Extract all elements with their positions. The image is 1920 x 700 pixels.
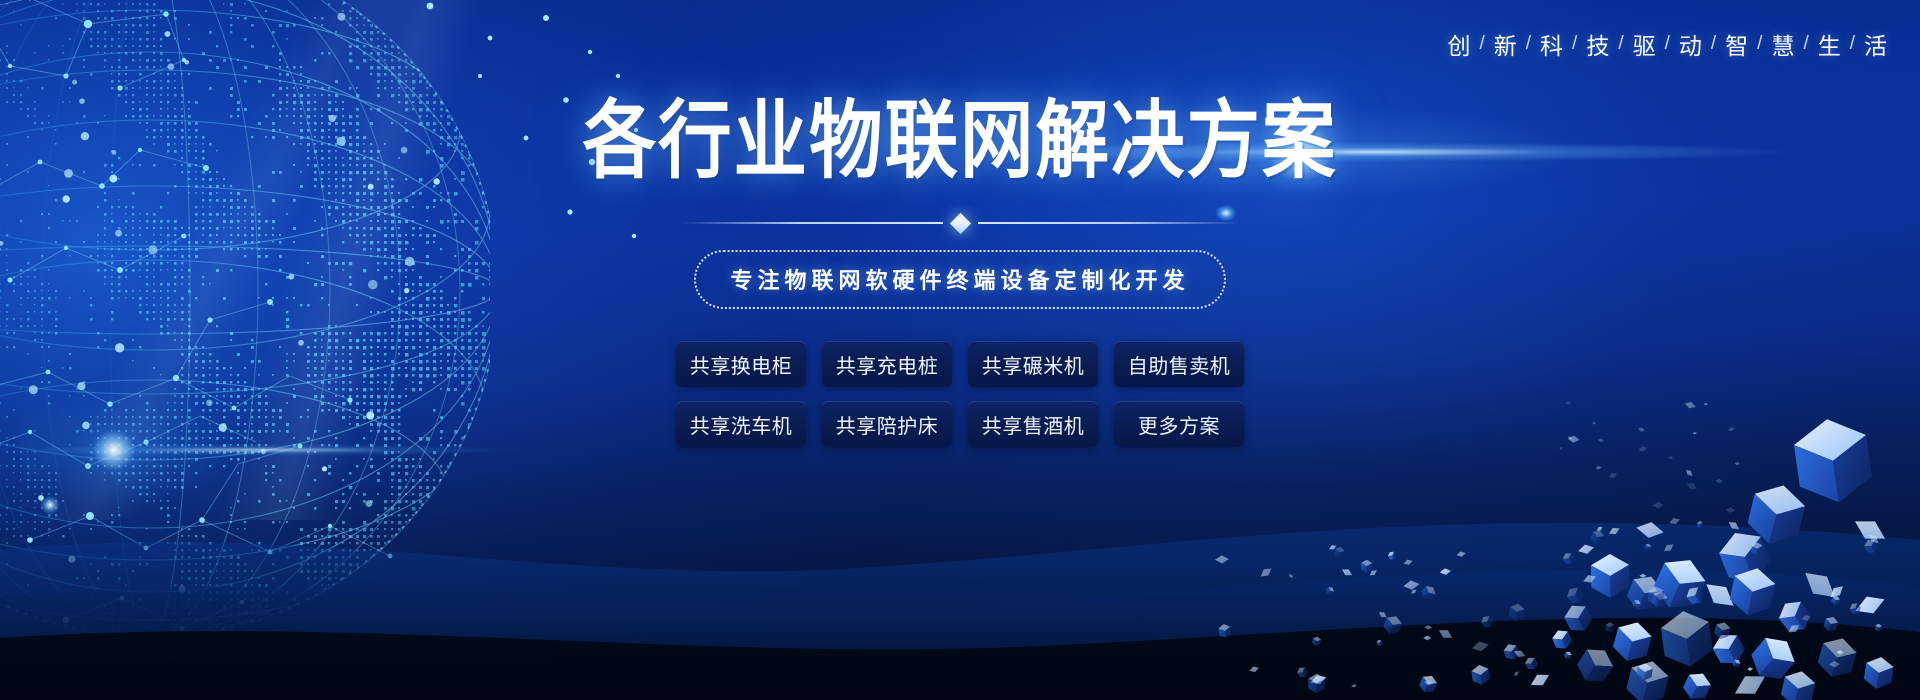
title-divider [680, 212, 1240, 234]
page-title: 各行业物联网解决方案 [583, 98, 1338, 183]
solution-button-group: 共享换电柜 共享充电桩 共享碾米机 自助售卖机 共享洗车机 共享陪护床 共享售酒… [676, 341, 1244, 447]
solution-button-7[interactable]: 共享售酒机 [968, 401, 1098, 447]
solution-button-4[interactable]: 自助售卖机 [1114, 341, 1244, 387]
solution-button-3[interactable]: 共享碾米机 [968, 341, 1098, 387]
solution-button-8[interactable]: 更多方案 [1114, 401, 1244, 447]
divider-line-left [680, 222, 943, 224]
subtitle-pill: 专注物联网软硬件终端设备定制化开发 [694, 250, 1225, 309]
divider-line-right [978, 222, 1241, 224]
solution-button-row-1: 共享换电柜 共享充电桩 共享碾米机 自助售卖机 [676, 341, 1244, 387]
solution-button-row-2: 共享洗车机 共享陪护床 共享售酒机 更多方案 [676, 401, 1244, 447]
diamond-icon [949, 212, 970, 233]
hero-banner: 创/新/科/技/驱/动/智/慧/生/活 各行业物联网解决方案 专注物联网软硬件终… [0, 0, 1920, 700]
solution-button-5[interactable]: 共享洗车机 [676, 401, 806, 447]
solution-button-2[interactable]: 共享充电桩 [822, 341, 952, 387]
solution-button-1[interactable]: 共享换电柜 [676, 341, 806, 387]
hero-content: 各行业物联网解决方案 专注物联网软硬件终端设备定制化开发 共享换电柜 共享充电桩… [0, 0, 1920, 700]
solution-button-6[interactable]: 共享陪护床 [822, 401, 952, 447]
